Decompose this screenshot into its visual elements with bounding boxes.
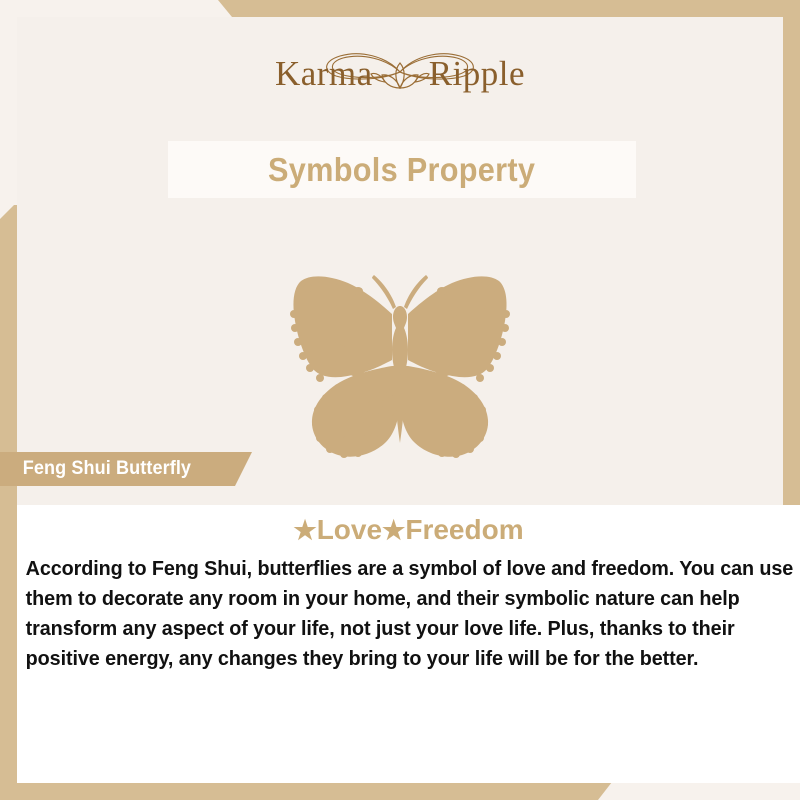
frame-band-bottom bbox=[0, 782, 612, 800]
title-banner: Symbols Property bbox=[168, 141, 636, 198]
brand-name-right: Ripple bbox=[429, 54, 525, 94]
brand-name: Karma Ripple bbox=[275, 54, 525, 94]
content-panel: ★Love★Freedom According to Feng Shui, bu… bbox=[17, 505, 800, 783]
star-icon-left: ★ bbox=[293, 515, 316, 545]
brand-logo: Karma Ripple bbox=[0, 38, 800, 110]
frame-band-top bbox=[218, 0, 800, 17]
brand-name-left: Karma bbox=[275, 54, 373, 94]
content-headline: ★Love★Freedom bbox=[17, 505, 800, 546]
headline-word-freedom: Freedom bbox=[405, 514, 523, 545]
body-paragraph: According to Feng Shui, butterflies are … bbox=[17, 546, 800, 674]
headline-word-love: Love bbox=[317, 514, 382, 545]
page-title: Symbols Property bbox=[268, 151, 535, 189]
butterfly-icon bbox=[220, 228, 580, 460]
butterfly-illustration bbox=[0, 228, 800, 460]
poster-canvas: Karma Ripple Symbols Property bbox=[0, 0, 800, 800]
status-badge: Feng Shui Butterfly bbox=[0, 452, 252, 486]
badge-label: Feng Shui Butterfly bbox=[0, 458, 191, 480]
star-icon-mid: ★ bbox=[382, 515, 405, 545]
